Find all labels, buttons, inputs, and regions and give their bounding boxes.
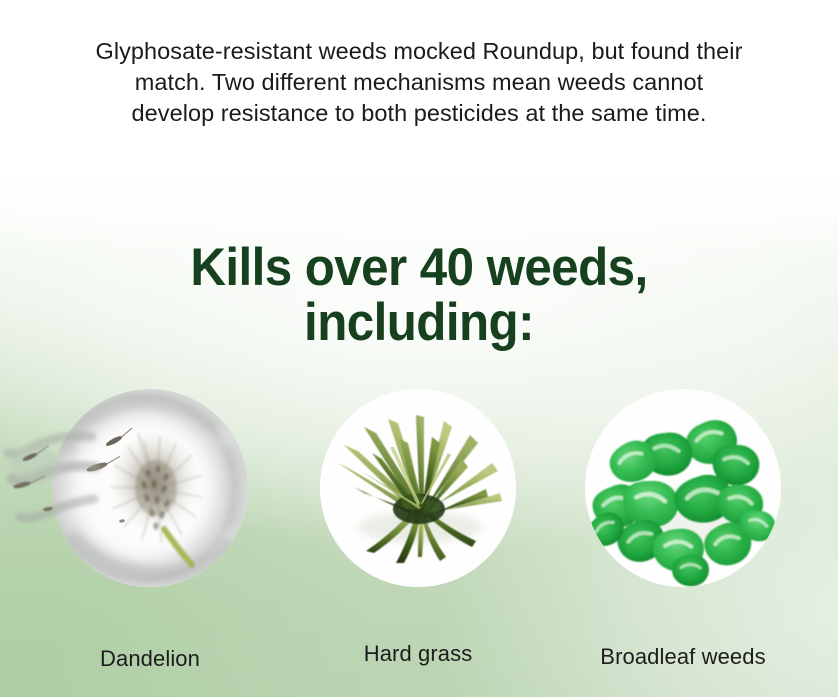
intro-line-2: match. Two different mechanisms mean wee… [0,67,838,98]
intro-line-1: Glyphosate-resistant weeds mocked Roundu… [0,36,838,67]
hard-grass-tuft-icon [320,389,516,587]
promo-graphic: Glyphosate-resistant weeds mocked Roundu… [0,0,838,697]
dandelion-photo-disc [52,389,248,587]
broadleaf-clover-icon [585,389,781,587]
hard-grass-photo-disc [320,389,516,587]
weed-caption-broadleaf-weeds: Broadleaf weeds [578,644,788,670]
headline: Kills over 40 weeds, including: [29,240,808,350]
dandelion-seedhead-icon [52,389,248,587]
intro-line-3: develop resistance to both pesticides at… [0,98,838,129]
weed-caption-hard-grass: Hard grass [313,641,523,667]
weed-card-dandelion: Dandelion [45,389,255,587]
weed-card-list: Dandelion [0,389,838,689]
weed-card-broadleaf-weeds: Broadleaf weeds [578,389,788,587]
broadleaf-photo-disc [585,389,781,587]
weed-caption-dandelion: Dandelion [45,646,255,672]
headline-line-1: Kills over 40 weeds, [29,240,808,295]
weed-card-hard-grass: Hard grass [313,389,523,587]
intro-paragraph: Glyphosate-resistant weeds mocked Roundu… [0,36,838,129]
headline-line-2: including: [29,295,808,350]
